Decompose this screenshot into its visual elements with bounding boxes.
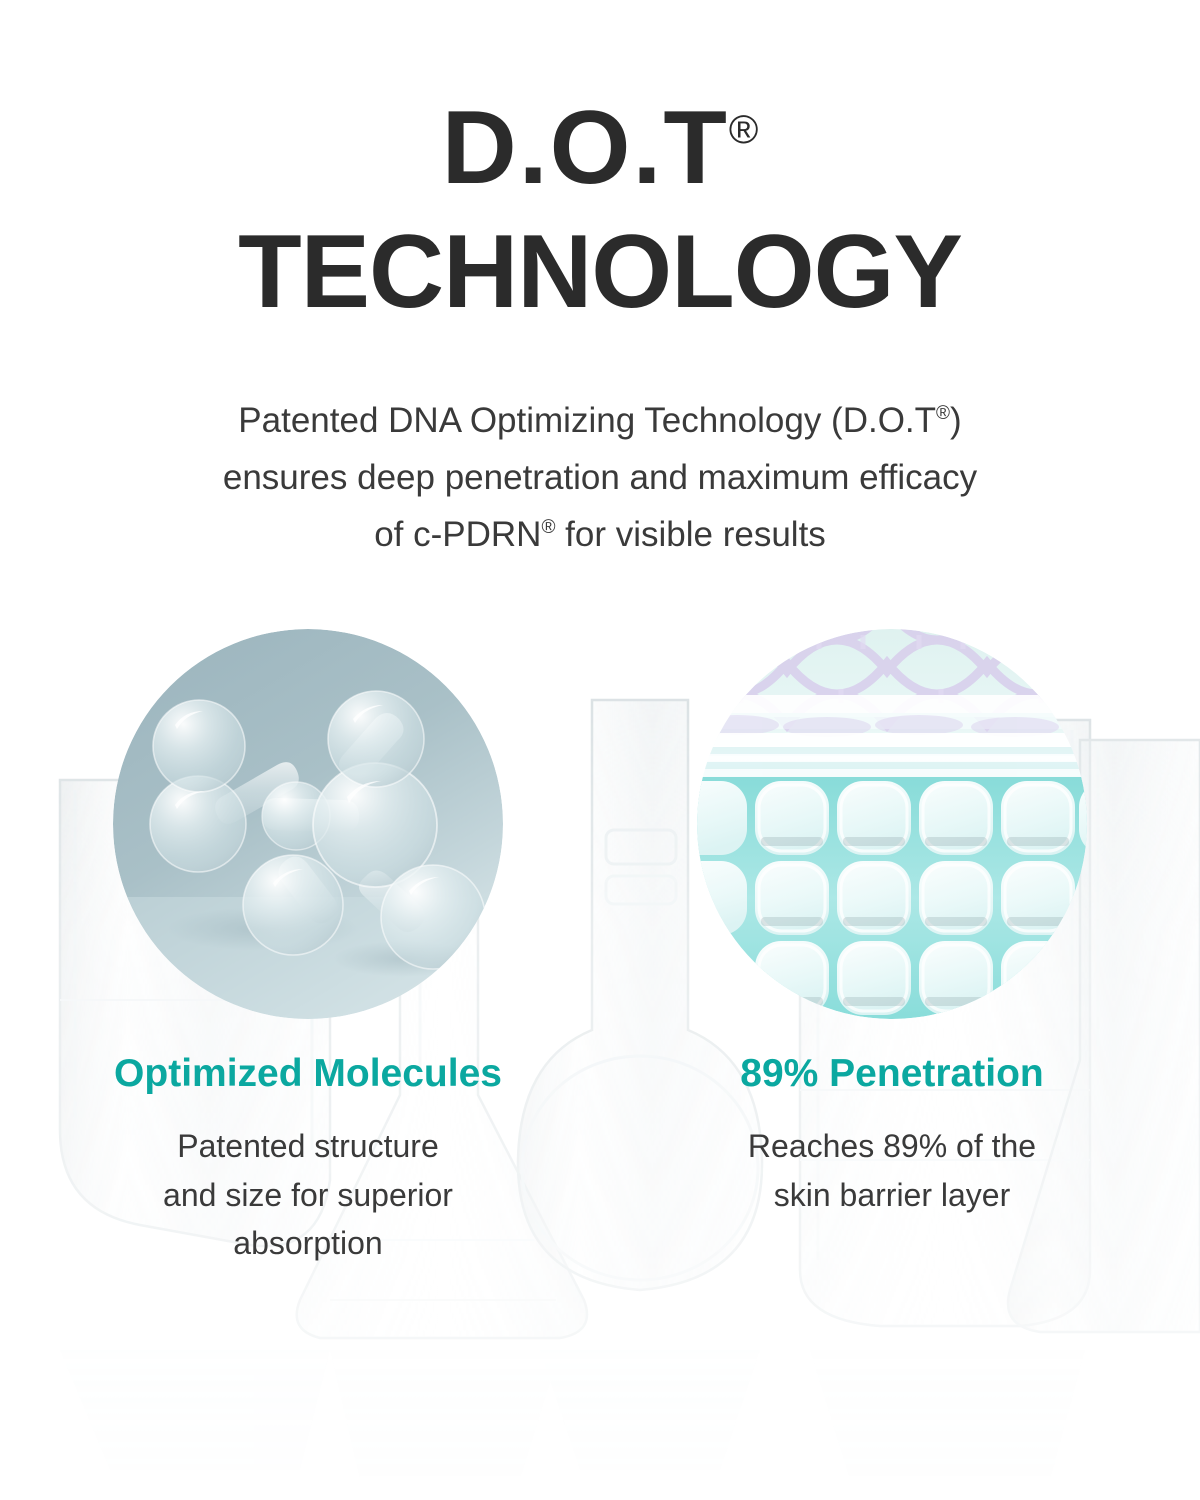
page-title: D.O.T® — [0, 96, 1200, 200]
registered-trademark-icon: ® — [729, 108, 758, 152]
subtitle-paragraph: Patented DNA Optimizing Technology (D.O.… — [0, 393, 1200, 563]
skin-barrier-cell-grid-render — [697, 629, 1087, 1019]
subtitle-line-1-a: Patented DNA Optimizing Technology (D.O.… — [238, 401, 936, 440]
feature-body-optimized-molecules: Patented structure and size for superior… — [113, 1122, 503, 1268]
feature-heading-penetration: 89% Penetration — [697, 1053, 1087, 1096]
feature-body-line: absorption — [113, 1219, 503, 1268]
feature-penetration: 89% Penetration Reaches 89% of the skin … — [697, 629, 1087, 1219]
subtitle-line-1-b: ) — [950, 401, 962, 440]
page-root: D.O.T® TECHNOLOGY Patented DNA Optimizin… — [0, 0, 1200, 1500]
feature-heading-optimized-molecules: Optimized Molecules — [113, 1053, 503, 1096]
hero-section: D.O.T® TECHNOLOGY — [0, 0, 1200, 327]
subtitle-line-2: ensures deep penetration and maximum eff… — [0, 450, 1200, 507]
feature-image-molecule — [113, 629, 503, 1019]
page-title-second-line: TECHNOLOGY — [0, 218, 1200, 327]
feature-columns: Optimized Molecules Patented structure a… — [0, 629, 1200, 1268]
subtitle-line-3: of c-PDRN® for visible results — [0, 507, 1200, 564]
subtitle-line-1: Patented DNA Optimizing Technology (D.O.… — [0, 393, 1200, 450]
feature-optimized-molecules: Optimized Molecules Patented structure a… — [113, 629, 503, 1268]
cell-grid — [697, 777, 1087, 1019]
feature-image-skin-barrier — [697, 629, 1087, 1019]
page-title-text: D.O.T — [442, 90, 729, 206]
subtitle-line-3-b: for visible results — [555, 515, 825, 554]
feature-body-line: skin barrier layer — [697, 1171, 1087, 1220]
feature-body-penetration: Reaches 89% of the skin barrier layer — [697, 1122, 1087, 1219]
subtitle-line-3-a: of c-PDRN — [374, 515, 541, 554]
registered-trademark-icon: ® — [541, 517, 555, 538]
feature-body-line: Reaches 89% of the — [697, 1122, 1087, 1171]
molecule-3d-render — [113, 629, 503, 1019]
feature-body-line: Patented structure — [113, 1122, 503, 1171]
registered-trademark-icon: ® — [936, 403, 950, 424]
feature-body-line: and size for superior — [113, 1171, 503, 1220]
